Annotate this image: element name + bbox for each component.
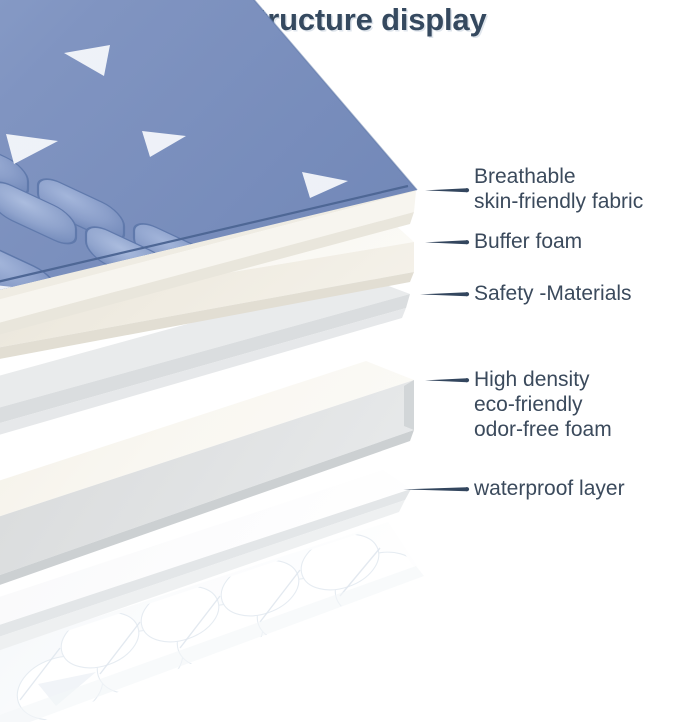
callout-label-breathable-skin-friendly-fabric: Breathable skin-friendly fabric	[474, 164, 643, 214]
callout-label-high-density-foam: High density eco-friendly odor-free foam	[474, 367, 612, 442]
leader-line-safety-materials	[420, 291, 469, 297]
mattress-layer-illustration	[0, 0, 679, 722]
callout-label-buffer-foam: Buffer foam	[474, 229, 582, 254]
callout-label-waterproof-layer: waterproof layer	[474, 476, 625, 501]
leader-line-breathable-skin-friendly-fabric	[425, 187, 469, 193]
callout-label-safety-materials: Safety -Materials	[474, 281, 632, 306]
leader-line-waterproof-layer	[403, 486, 469, 492]
leader-line-high-density-foam	[425, 377, 469, 383]
structure-display-page: 3D structure display	[0, 0, 679, 722]
leader-line-buffer-foam	[425, 239, 469, 245]
